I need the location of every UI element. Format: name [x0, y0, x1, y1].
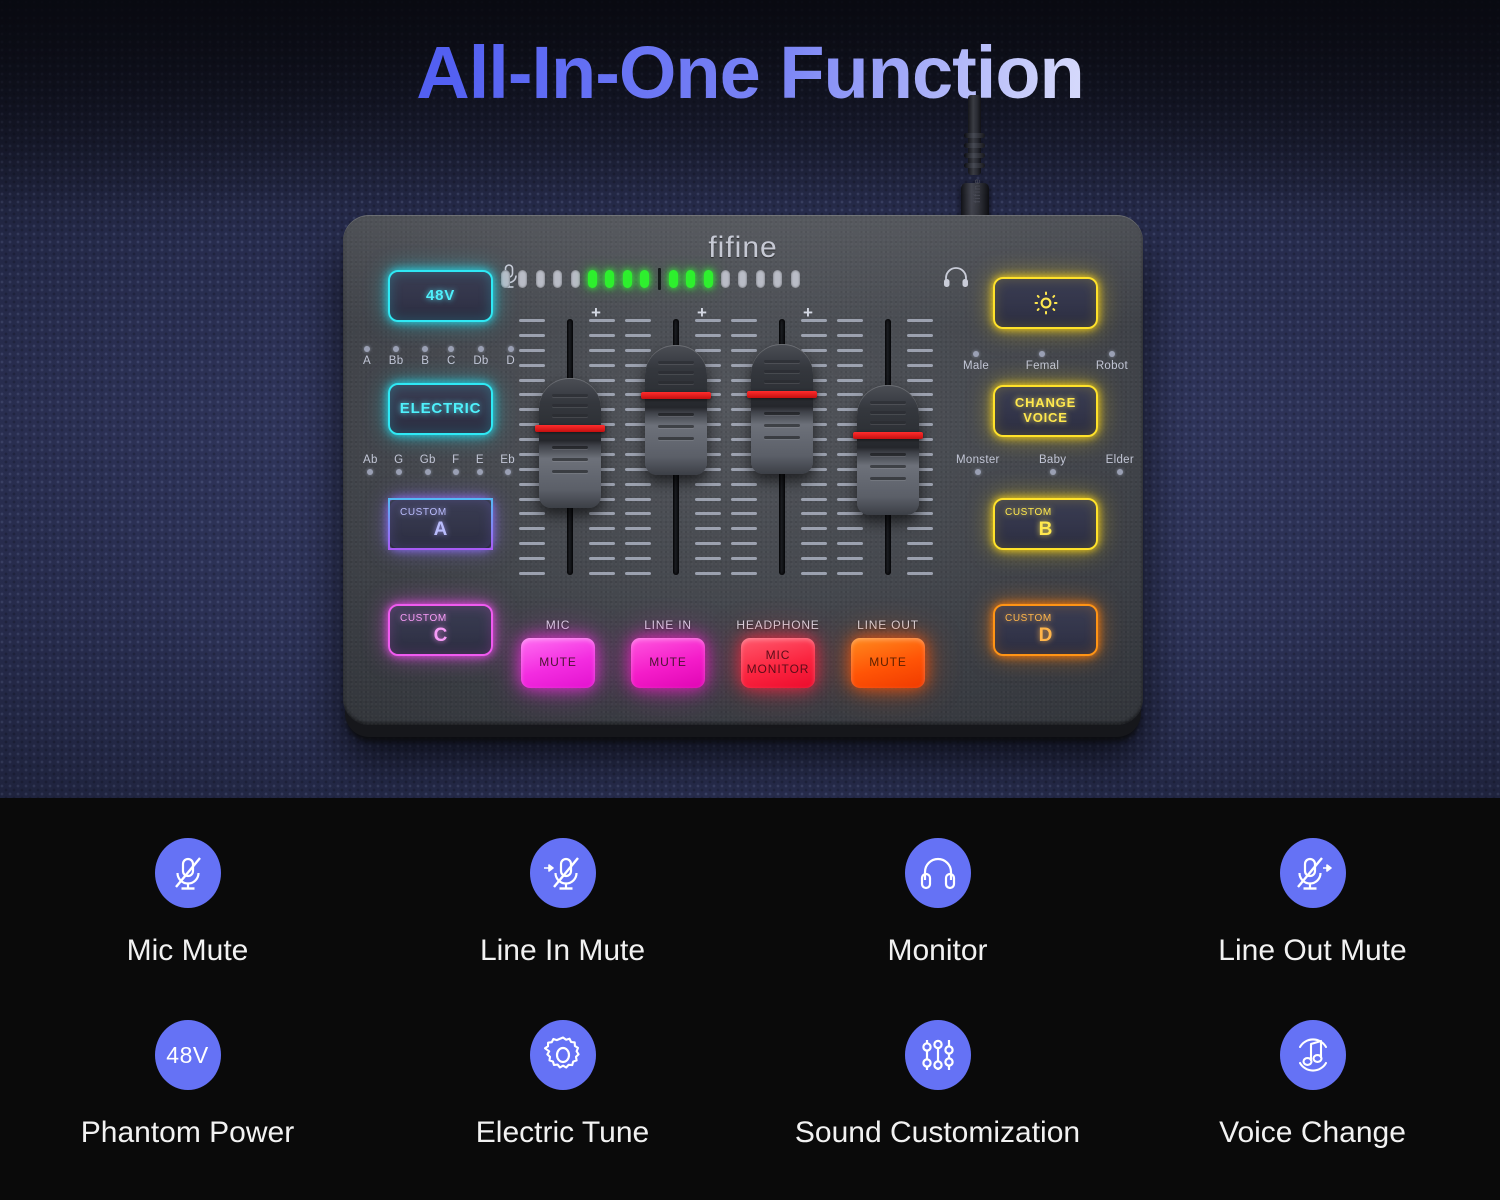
scale-tick	[731, 334, 757, 337]
pad-label: MICMONITOR	[747, 649, 810, 677]
knob-grip	[658, 413, 694, 416]
scale-tick	[837, 572, 863, 575]
knob-grip	[552, 414, 588, 417]
channel-headphone-pad[interactable]: MICMONITOR	[741, 638, 815, 688]
scale-tick	[801, 334, 827, 337]
led-label: Robot	[1096, 360, 1128, 372]
channel-label: HEADPHONE	[736, 618, 819, 632]
scale-tick	[837, 334, 863, 337]
knob-grip	[870, 401, 906, 404]
knob-grip	[552, 458, 588, 461]
scale-tick	[907, 364, 933, 367]
scale-tick	[837, 557, 863, 560]
fader-indicator-line	[747, 391, 817, 398]
led-dot	[393, 346, 399, 352]
meter-segment	[669, 270, 678, 288]
fifine-logo: fifine	[343, 231, 1143, 265]
led-dot	[448, 346, 454, 352]
knob-grip	[658, 425, 694, 428]
meter-segment	[588, 270, 597, 288]
led-label: B	[421, 355, 429, 367]
scale-tick	[589, 542, 615, 545]
feature-label: Voice Change	[1219, 1116, 1406, 1150]
scale-tick	[801, 542, 827, 545]
feature-label: Line Out Mute	[1218, 934, 1406, 968]
48v-button[interactable]: 48V	[388, 270, 493, 322]
led-indicator: Male	[963, 351, 989, 372]
led-indicator: Elder	[1106, 454, 1134, 475]
feature-monitor: Monitor	[750, 838, 1125, 968]
scale-tick	[589, 527, 615, 530]
knob-grip	[552, 394, 588, 397]
feature-voice-change: Voice Change	[1125, 1020, 1500, 1150]
scale-tick	[801, 498, 827, 501]
meter-segment	[686, 270, 695, 288]
scale-tick	[519, 364, 545, 367]
channel-mic-pad[interactable]: MUTE	[521, 638, 595, 688]
scale-tick	[695, 527, 721, 530]
scale-tick	[519, 557, 545, 560]
electric-button[interactable]: ELECTRIC	[388, 383, 493, 435]
led-label: Gb	[420, 454, 436, 466]
scale-tick	[625, 483, 651, 486]
led-label: Eb	[500, 454, 515, 466]
led-label: Ab	[363, 454, 378, 466]
pad-label: MUTE	[649, 656, 687, 670]
headphone-icon	[905, 838, 971, 908]
scale-tick	[519, 512, 545, 515]
led-indicator: Eb	[500, 454, 515, 475]
led-label: Femal	[1026, 360, 1059, 372]
led-dot	[508, 346, 514, 352]
note-leds-sharp: ABbBCDbD	[363, 346, 515, 367]
scale-tick	[801, 349, 827, 352]
icon-text: 48V	[166, 1042, 208, 1069]
led-indicator: B	[421, 346, 429, 367]
led-indicator: Ab	[363, 454, 378, 475]
scale-tick	[695, 557, 721, 560]
line-in-muted-icon	[530, 838, 596, 908]
meter-segment	[721, 270, 730, 288]
feature-row-1: Mic Mute Line In Mute Monitor Line Out M…	[0, 838, 1500, 968]
led-dot	[1050, 469, 1056, 475]
scale-tick	[519, 542, 545, 545]
custom-a-button[interactable]: CUSTOM A	[388, 498, 493, 550]
scale-tick	[907, 349, 933, 352]
knob-grip	[870, 465, 906, 468]
led-indicator: C	[447, 346, 456, 367]
led-label: G	[394, 454, 403, 466]
led-label: E	[476, 454, 484, 466]
meter-segment	[571, 270, 580, 288]
scale-tick	[519, 379, 545, 382]
scale-tick	[519, 527, 545, 530]
channel-label: MIC	[546, 618, 570, 632]
music-note-circle-icon	[1280, 1020, 1346, 1090]
scale-tick	[731, 498, 757, 501]
led-indicator: Robot	[1096, 351, 1128, 372]
feature-mic-mute: Mic Mute	[0, 838, 375, 968]
scale-tick	[695, 542, 721, 545]
feature-grid: Mic Mute Line In Mute Monitor Line Out M…	[0, 798, 1500, 1200]
scale-tick	[695, 572, 721, 575]
feature-label: Monitor	[887, 934, 987, 968]
custom-d-button[interactable]: CUSTOM D	[993, 604, 1098, 656]
meter-segment	[791, 270, 800, 288]
voice-leds-bottom: MonsterBabyElder	[956, 454, 1134, 475]
cable-plug-label: fifine	[972, 178, 982, 203]
meter-segment	[623, 270, 632, 288]
feature-label: Electric Tune	[476, 1116, 649, 1150]
knob-grip	[764, 436, 800, 439]
led-label: F	[452, 454, 459, 466]
meter-segment	[773, 270, 782, 288]
channel-line-out-pad[interactable]: MUTE	[851, 638, 925, 688]
mic-muted-icon	[155, 838, 221, 908]
line-out-muted-icon	[1280, 838, 1346, 908]
scale-tick	[837, 379, 863, 382]
scale-tick	[801, 512, 827, 515]
fader-line-out[interactable]	[837, 315, 933, 583]
scale-tick	[625, 319, 651, 322]
led-indicator: A	[363, 346, 371, 367]
custom-b-button[interactable]: CUSTOM B	[993, 498, 1098, 550]
scale-tick	[589, 349, 615, 352]
meter-segment	[536, 270, 545, 288]
fader-knob[interactable]	[645, 345, 707, 475]
fader-knob[interactable]	[857, 385, 919, 515]
led-label: C	[447, 355, 456, 367]
meter-segment	[518, 270, 527, 288]
fader-indicator-line	[641, 392, 711, 399]
change-voice-button[interactable]: CHANGE VOICE	[993, 385, 1098, 437]
led-label: A	[363, 355, 371, 367]
fader-knob[interactable]	[539, 378, 601, 508]
channel-label: LINE OUT	[857, 618, 919, 632]
knob-grip	[870, 421, 906, 424]
sliders-icon	[905, 1020, 971, 1090]
meter-segment	[605, 270, 614, 288]
knob-grip	[552, 446, 588, 449]
feature-label: Sound Customization	[795, 1116, 1080, 1150]
knob-grip	[764, 360, 800, 363]
scale-tick	[589, 512, 615, 515]
fader-plus-marker: +	[803, 303, 813, 323]
meter-segment	[738, 270, 747, 288]
led-indicator: F	[452, 454, 459, 475]
scale-tick	[695, 498, 721, 501]
feature-label: Mic Mute	[127, 934, 249, 968]
knob-grip	[764, 370, 800, 373]
scale-tick	[695, 512, 721, 515]
led-label: Bb	[389, 355, 404, 367]
scale-tick	[801, 572, 827, 575]
led-dot	[364, 346, 370, 352]
scale-tick	[625, 527, 651, 530]
led-label: Db	[473, 355, 488, 367]
knob-grip	[658, 361, 694, 364]
scale-tick	[625, 572, 651, 575]
feature-sound-customization: Sound Customization	[750, 1020, 1125, 1150]
scale-tick	[907, 334, 933, 337]
led-dot	[1109, 351, 1115, 357]
scale-tick	[731, 349, 757, 352]
led-indicator: Monster	[956, 454, 1000, 475]
led-dot	[477, 469, 483, 475]
scale-tick	[837, 527, 863, 530]
voice-leds-top: MaleFemalRobot	[963, 351, 1128, 372]
scale-tick	[837, 319, 863, 322]
scale-tick	[695, 334, 721, 337]
led-label: Elder	[1106, 454, 1134, 466]
led-dot	[422, 346, 428, 352]
scale-tick	[801, 557, 827, 560]
scale-tick	[731, 572, 757, 575]
scale-tick	[625, 334, 651, 337]
fader-plus-marker: +	[697, 303, 707, 323]
scale-tick	[837, 542, 863, 545]
feature-phantom-power: 48VPhantom Power	[0, 1020, 375, 1150]
led-dot	[975, 469, 981, 475]
led-indicator: Gb	[420, 454, 436, 475]
led-indicator: D	[506, 346, 515, 367]
pad-label: MUTE	[539, 656, 577, 670]
knob-grip	[764, 412, 800, 415]
scale-tick	[801, 483, 827, 486]
led-dot	[973, 351, 979, 357]
scale-tick	[731, 542, 757, 545]
scale-tick	[907, 557, 933, 560]
led-dot	[1039, 351, 1045, 357]
scale-tick	[519, 349, 545, 352]
scale-tick	[625, 498, 651, 501]
scale-tick	[907, 572, 933, 575]
knob-grip	[764, 380, 800, 383]
led-level-meter	[501, 267, 971, 291]
scale-tick	[731, 319, 757, 322]
scale-tick	[625, 542, 651, 545]
48v-text-icon: 48V	[155, 1020, 221, 1090]
channel-line-in-pad[interactable]: MUTE	[631, 638, 705, 688]
scale-tick	[519, 319, 545, 322]
headphone-icon	[943, 267, 969, 287]
scale-tick	[519, 572, 545, 575]
led-dot	[1117, 469, 1123, 475]
led-label: Monster	[956, 454, 1000, 466]
knob-grip	[658, 371, 694, 374]
led-indicator: G	[394, 454, 403, 475]
scale-tick	[837, 393, 863, 396]
knob-grip	[658, 437, 694, 440]
led-label: D	[506, 355, 515, 367]
scale-tick	[731, 527, 757, 530]
meter-segment	[640, 270, 649, 288]
scale-tick	[907, 542, 933, 545]
knob-grip	[658, 381, 694, 384]
scale-tick	[731, 483, 757, 486]
sun-icon	[1033, 290, 1059, 316]
knob-grip	[870, 453, 906, 456]
knob-grip	[764, 424, 800, 427]
led-dot	[478, 346, 484, 352]
led-indicator: Baby	[1039, 454, 1066, 475]
fader-knob[interactable]	[751, 344, 813, 474]
fader-bank: +++	[519, 315, 939, 583]
fader-indicator-line	[853, 432, 923, 439]
cable-rib	[964, 153, 985, 158]
knob-grip	[552, 470, 588, 473]
fader-indicator-line	[535, 425, 605, 432]
feature-electric-tune: Electric Tune	[375, 1020, 750, 1150]
led-dot	[425, 469, 431, 475]
led-indicator: Bb	[389, 346, 404, 367]
scale-tick	[695, 349, 721, 352]
hero-section: All-In-One Function fifine fifine	[0, 0, 1500, 798]
scale-tick	[589, 379, 615, 382]
led-dot	[505, 469, 511, 475]
scale-tick	[589, 557, 615, 560]
meter-segment	[704, 270, 713, 288]
feature-line-out-mute: Line Out Mute	[1125, 838, 1500, 968]
scale-tick	[907, 319, 933, 322]
meter-divider	[658, 268, 661, 290]
feature-row-2: 48VPhantom Power Electric Tune Sound Cus…	[0, 1020, 1500, 1150]
scale-tick	[907, 379, 933, 382]
cable-rib	[964, 163, 985, 168]
scale-tick	[837, 349, 863, 352]
knob-grip	[552, 404, 588, 407]
usb-cable: fifine	[955, 95, 995, 230]
led-dot	[367, 469, 373, 475]
meter-segment	[501, 270, 510, 288]
led-indicator: E	[476, 454, 484, 475]
scale-tick	[589, 364, 615, 367]
meter-segment	[553, 270, 562, 288]
cable-rib	[964, 133, 985, 138]
scale-tick	[731, 512, 757, 515]
gear-icon	[530, 1020, 596, 1090]
channel-label: LINE IN	[644, 618, 692, 632]
custom-c-button[interactable]: CUSTOM C	[388, 604, 493, 656]
pad-label: MUTE	[869, 656, 907, 670]
led-indicator: Db	[473, 346, 488, 367]
led-dot	[453, 469, 459, 475]
scale-tick	[907, 527, 933, 530]
scale-tick	[837, 512, 863, 515]
feature-label: Phantom Power	[81, 1116, 294, 1150]
scale-tick	[837, 364, 863, 367]
fader-line-in[interactable]: +	[625, 315, 721, 583]
audio-mixer-device: fifine 48V ABbBCDbD ELECTRIC AbGGbFEEb C…	[343, 215, 1143, 725]
scale-tick	[589, 572, 615, 575]
led-label: Baby	[1039, 454, 1066, 466]
knob-grip	[870, 477, 906, 480]
feature-line-in-mute: Line In Mute	[375, 838, 750, 968]
page-title: All-In-One Function	[0, 36, 1500, 110]
fader-plus-marker: +	[591, 303, 601, 323]
scale-tick	[625, 349, 651, 352]
led-indicator: Femal	[1026, 351, 1059, 372]
feature-label: Line In Mute	[480, 934, 645, 968]
led-dot	[396, 469, 402, 475]
scale-tick	[589, 334, 615, 337]
scale-tick	[801, 527, 827, 530]
scale-tick	[625, 512, 651, 515]
note-leds-flat: AbGGbFEEb	[363, 454, 515, 475]
scale-tick	[519, 334, 545, 337]
brightness-button[interactable]	[993, 277, 1098, 329]
fader-mic[interactable]: +	[519, 315, 615, 583]
led-label: Male	[963, 360, 989, 372]
cable-rib	[964, 143, 985, 148]
knob-grip	[870, 411, 906, 414]
scale-tick	[695, 483, 721, 486]
scale-tick	[731, 557, 757, 560]
fader-headphone[interactable]: +	[731, 315, 827, 583]
meter-segment	[756, 270, 765, 288]
scale-tick	[625, 557, 651, 560]
